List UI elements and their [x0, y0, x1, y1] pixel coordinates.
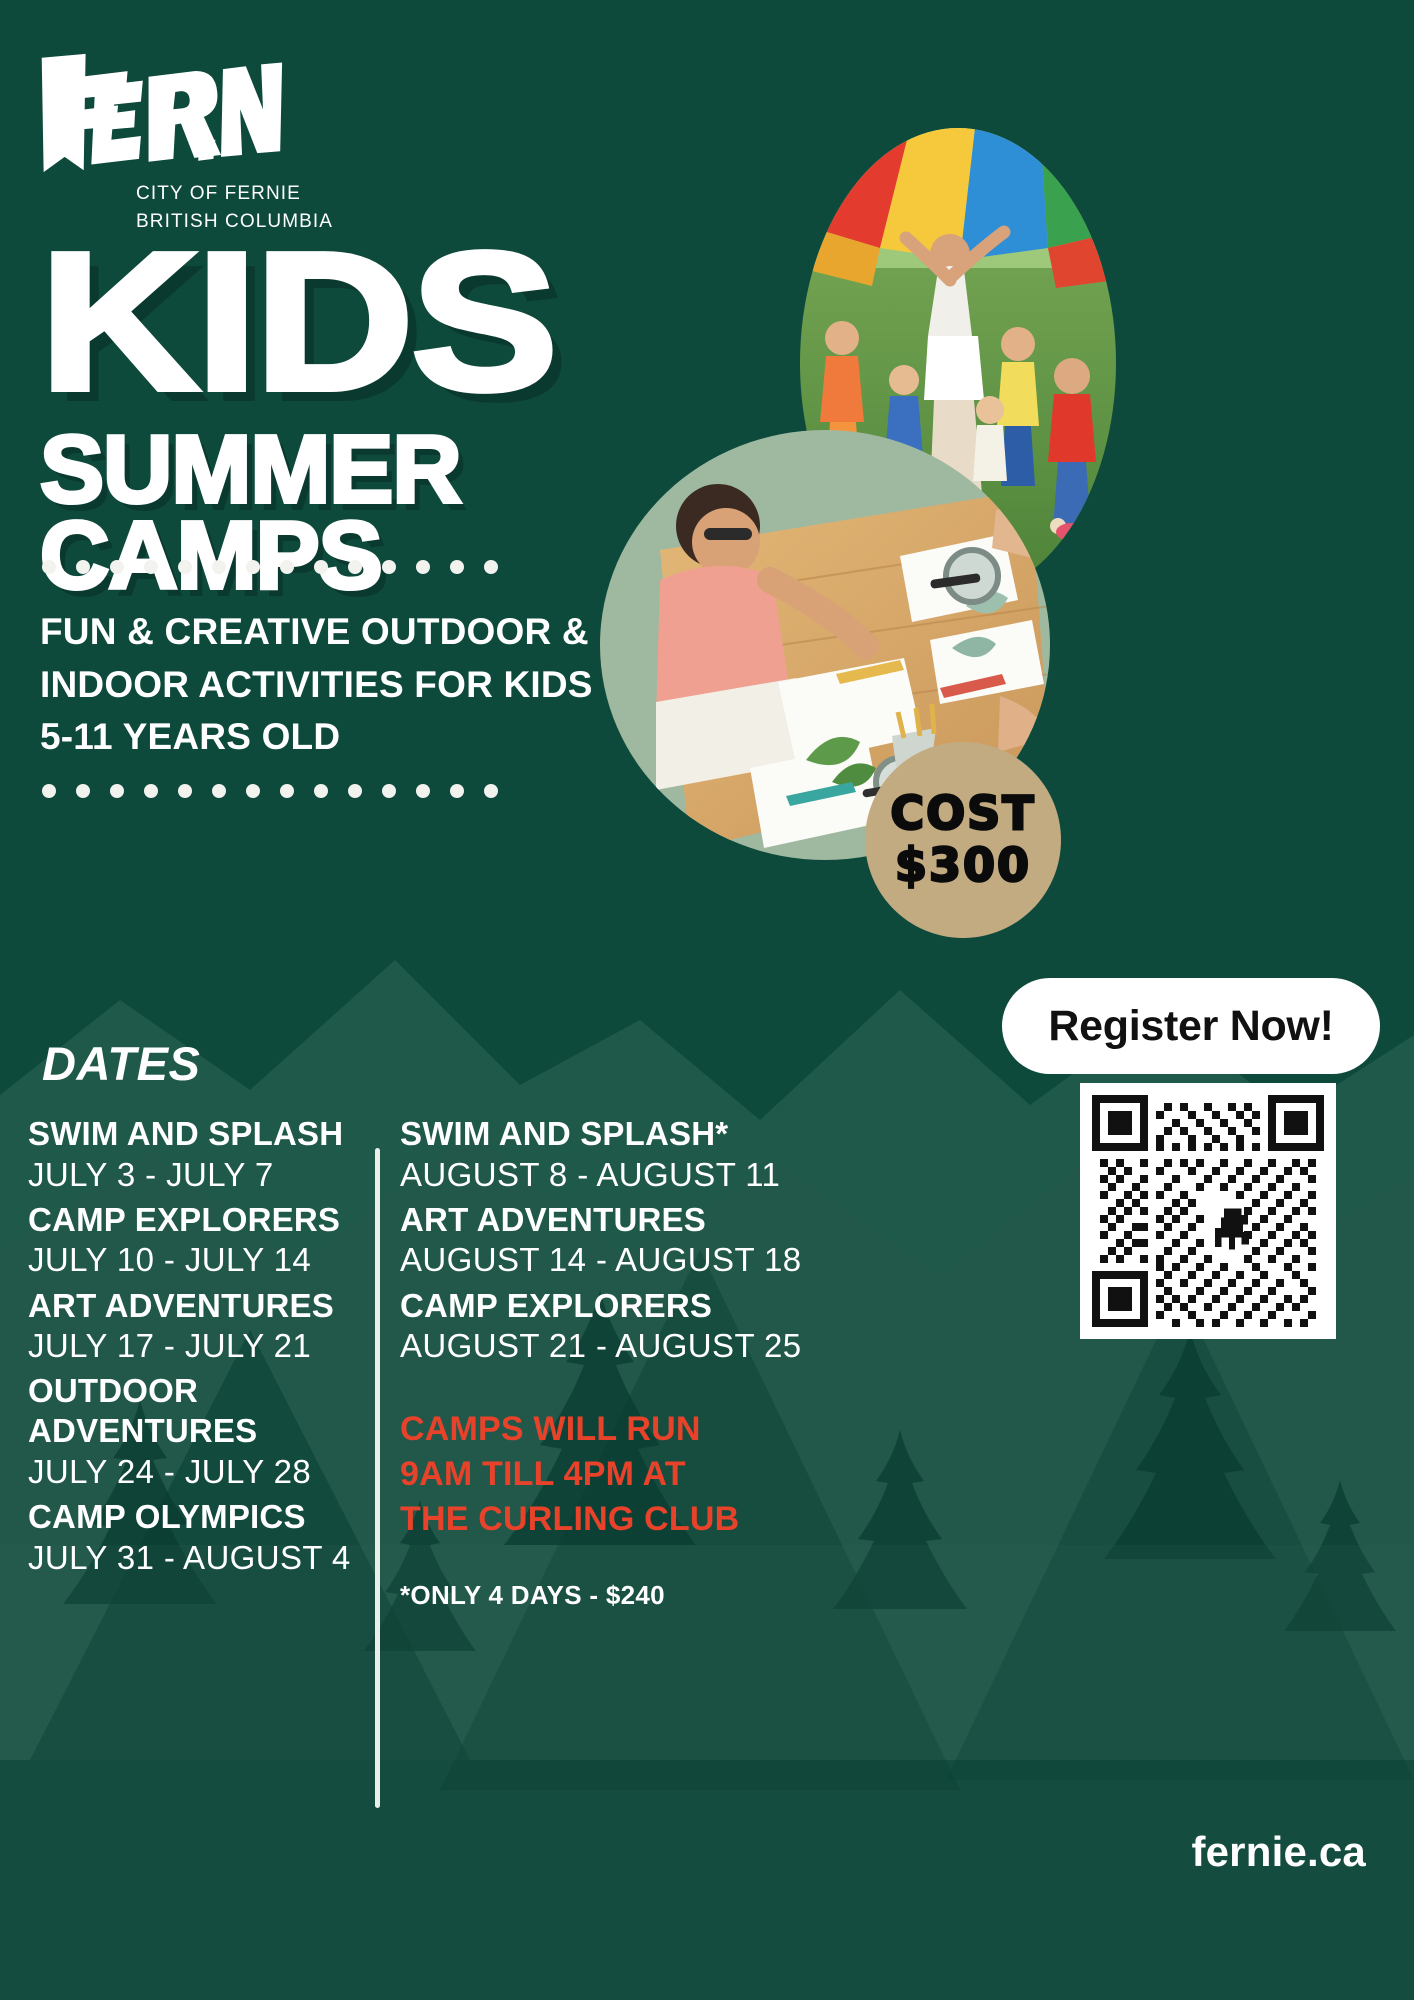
divider-dot [178, 560, 192, 574]
divider-dot [382, 560, 396, 574]
divider-dot [314, 784, 328, 798]
divider-dot [382, 784, 396, 798]
camp-name: SWIM AND SPLASH* [400, 1114, 820, 1154]
divider-dot [76, 560, 90, 574]
divider-dot [212, 784, 226, 798]
cost-badge-label: COST [890, 789, 1035, 839]
divider-dot [484, 560, 498, 574]
camp-name: CAMP EXPLORERS [28, 1200, 368, 1240]
camp-dates: AUGUST 8 - AUGUST 11 [400, 1154, 820, 1196]
divider-dot [246, 784, 260, 798]
divider-dot [144, 560, 158, 574]
divider-dot [416, 560, 430, 574]
divider-dot [246, 560, 260, 574]
camp-dates: AUGUST 14 - AUGUST 18 [400, 1239, 820, 1281]
price-footnote: *ONLY 4 DAYS - $240 [400, 1580, 820, 1611]
register-now-label: Register Now! [1048, 1002, 1333, 1051]
dot-divider-bottom [42, 784, 498, 798]
notice-line-2: 9AM TILL 4PM AT [400, 1452, 820, 1497]
divider-dot [110, 560, 124, 574]
divider-dot [42, 560, 56, 574]
divider-dot [314, 560, 328, 574]
camp-name: SWIM AND SPLASH [28, 1114, 368, 1154]
camp-name-cont: ADVENTURES [28, 1411, 368, 1451]
camp-dates: JULY 3 - JULY 7 [28, 1154, 368, 1196]
logo-subline-city: CITY OF FERNIE [136, 180, 356, 208]
poster-subtitle: FUN & CREATIVE OUTDOOR & INDOOR ACTIVITI… [40, 606, 660, 764]
divider-dot [144, 784, 158, 798]
cost-badge-amount: $300 [895, 841, 1031, 891]
camp-hours-notice: CAMPS WILL RUN 9AM TILL 4PM AT THE CURLI… [400, 1407, 820, 1542]
subtitle-line-2: INDOOR ACTIVITIES FOR KIDS [40, 659, 660, 712]
dates-column-left: SWIM AND SPLASH JULY 3 - JULY 7 CAMP EXP… [28, 1114, 368, 1583]
qr-code[interactable] [1080, 1083, 1336, 1339]
divider-dot [484, 784, 498, 798]
camp-dates: JULY 17 - JULY 21 [28, 1325, 368, 1367]
dates-heading: DATES [42, 1036, 200, 1091]
divider-dot [280, 560, 294, 574]
divider-dot [280, 784, 294, 798]
fernie-logo: CITY OF FERNIE BRITISH COLUMBIA [36, 52, 356, 235]
register-now-button[interactable]: Register Now! [1002, 978, 1380, 1074]
divider-dot [450, 560, 464, 574]
divider-dot [212, 560, 226, 574]
divider-dot [110, 784, 124, 798]
dates-column-right: SWIM AND SPLASH* AUGUST 8 - AUGUST 11 AR… [400, 1114, 820, 1611]
divider-dot [450, 784, 464, 798]
camp-dates: JULY 31 - AUGUST 4 [28, 1537, 368, 1579]
camp-name: ART ADVENTURES [400, 1200, 820, 1240]
camp-name: CAMP EXPLORERS [400, 1286, 820, 1326]
camp-name: ART ADVENTURES [28, 1286, 368, 1326]
camp-dates: JULY 10 - JULY 14 [28, 1239, 368, 1281]
dot-divider-top [42, 560, 498, 574]
column-divider [375, 1148, 380, 1808]
divider-dot [348, 784, 362, 798]
cost-badge: COST $300 [865, 742, 1061, 938]
subtitle-line-1: FUN & CREATIVE OUTDOOR & [40, 606, 660, 659]
fernie-wordmark-icon [36, 52, 284, 176]
camp-name: OUTDOOR [28, 1371, 368, 1411]
site-url: fernie.ca [1191, 1828, 1366, 1876]
divider-dot [348, 560, 362, 574]
headline-kids: KIDS [40, 240, 824, 405]
subtitle-line-3: 5-11 YEARS OLD [40, 711, 660, 764]
camp-dates: JULY 24 - JULY 28 [28, 1451, 368, 1493]
divider-dot [416, 784, 430, 798]
notice-line-1: CAMPS WILL RUN [400, 1407, 820, 1452]
camp-dates: AUGUST 21 - AUGUST 25 [400, 1325, 820, 1367]
camp-name: CAMP OLYMPICS [28, 1497, 368, 1537]
divider-dot [178, 784, 192, 798]
divider-dot [76, 784, 90, 798]
notice-line-3: THE CURLING CLUB [400, 1497, 820, 1542]
divider-dot [42, 784, 56, 798]
